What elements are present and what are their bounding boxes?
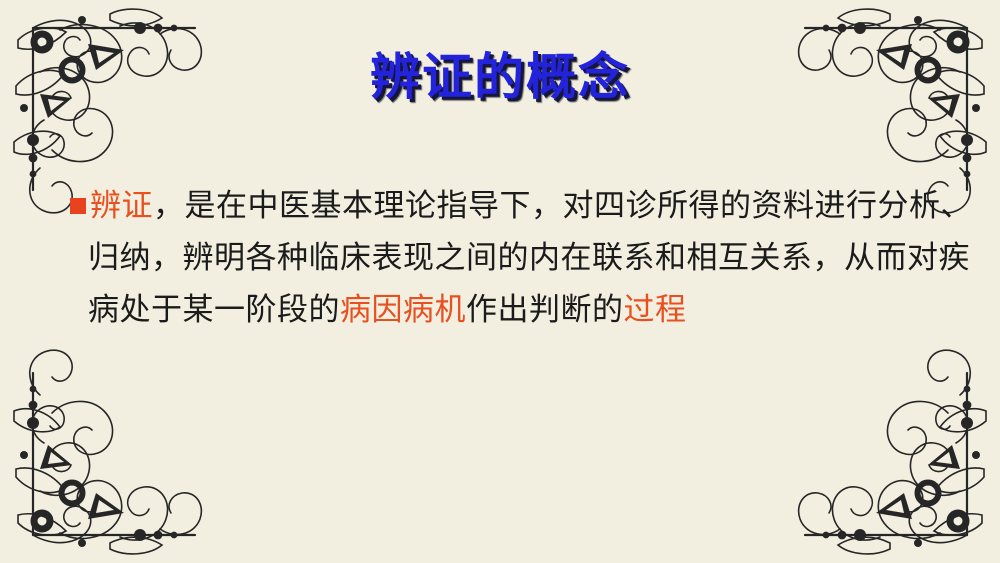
square-bullet-icon — [70, 198, 86, 214]
body-line-3-text-b: 作出判断的 — [466, 292, 624, 327]
body-line-3: 病处于某一阶段的病因病机作出判断的过程 — [70, 284, 930, 336]
slide-canvas: 辨证的概念 辨证，是在中医基本理论指导下，对四诊所得的资料进行分析、 归纳，辨明… — [0, 0, 1000, 563]
corner-ornament-bottom-left — [0, 313, 250, 563]
slide-title: 辨证的概念 — [0, 50, 1000, 105]
body-line-1-text: ，是在中医基本理论指导下，对四诊所得的资料进行分析、 — [153, 188, 972, 223]
body-line-1: 辨证，是在中医基本理论指导下，对四诊所得的资料进行分析、 — [70, 180, 930, 232]
body-line-3-highlight-a: 病因病机 — [340, 292, 466, 327]
body-line-3-text-a: 病处于某一阶段的 — [88, 292, 340, 327]
body-line-2-text: 归纳，辨明各种临床表现之间的内在联系和相互关系，从而对疾 — [88, 240, 970, 275]
body-line-2: 归纳，辨明各种临床表现之间的内在联系和相互关系，从而对疾 — [70, 232, 930, 284]
slide-body: 辨证，是在中医基本理论指导下，对四诊所得的资料进行分析、 归纳，辨明各种临床表现… — [70, 180, 930, 336]
corner-ornament-bottom-right — [750, 313, 1000, 563]
body-line-1-highlight: 辨证 — [90, 188, 153, 223]
body-line-3-highlight-b: 过程 — [624, 292, 687, 327]
